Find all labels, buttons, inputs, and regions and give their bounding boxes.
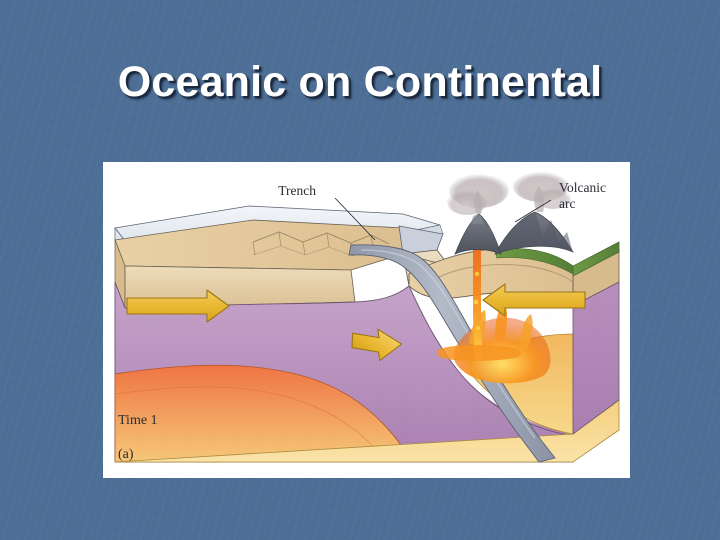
volcanic-arc-label-line1: Volcanic (559, 180, 606, 195)
subduction-cross-section-svg: Trench Volcanic arc Time 1 (a) (103, 162, 630, 478)
slide-canvas: Oceanic on Continental (0, 0, 720, 540)
right-side-block-faces (573, 242, 619, 434)
part-caption: (a) (118, 447, 134, 462)
page-title: Oceanic on Continental (0, 58, 720, 107)
time-caption: Time 1 (118, 413, 158, 428)
trench-label: Trench (278, 183, 316, 198)
volcanic-arc-label-line2: arc (559, 196, 575, 211)
subduction-diagram-figure: Trench Volcanic arc Time 1 (a) (103, 162, 630, 478)
